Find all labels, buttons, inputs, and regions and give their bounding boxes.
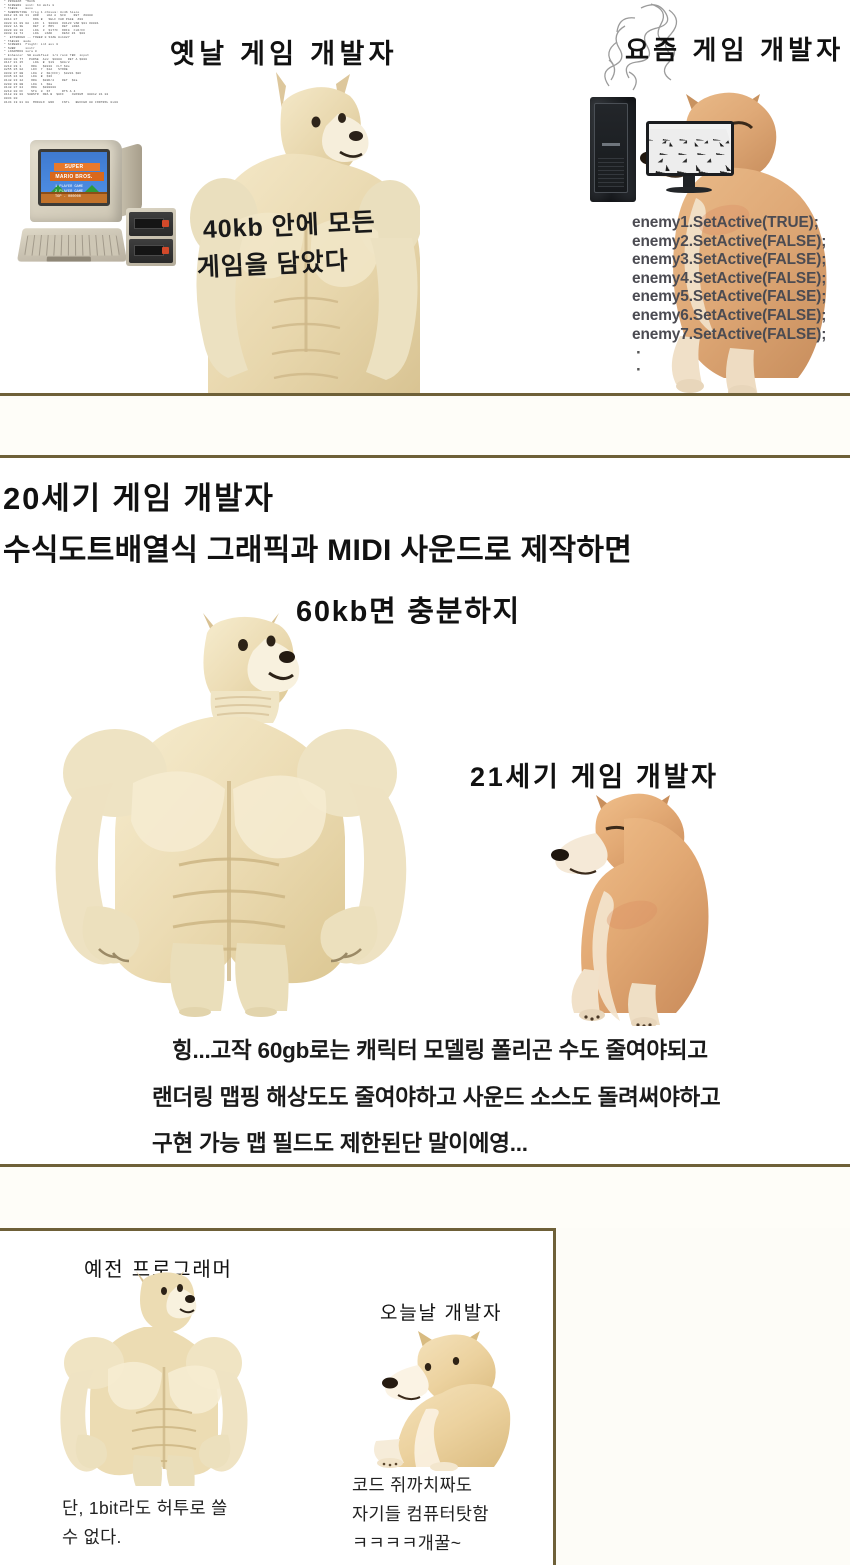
- modern-pc-tower-icon: [590, 95, 760, 210]
- 3d-maze-render: [649, 129, 731, 173]
- panel-gap-top: [0, 399, 850, 455]
- monitor-icon: [646, 121, 734, 176]
- drive-led: [162, 247, 169, 254]
- game-title-super: SUPER: [41, 164, 107, 170]
- meme-collage: * PROGRAM *MAIN * SCREEN0 init: 64 dots …: [0, 0, 850, 1565]
- caption-1bit-line1: 단, 1bit라도 허투로 쓸: [62, 1495, 228, 1520]
- heading-old-developer: 옛날 게임 개발자: [170, 32, 398, 71]
- floppy-drive-stack: [126, 208, 176, 266]
- panel-old-vs-today-programmer: 예전 프로그래머 오늘날 개발자: [0, 1228, 556, 1565]
- code-line: enemy4.SetActive(FALSE);: [632, 270, 848, 289]
- cheems-doge-icon: [540, 791, 765, 1026]
- label-today-developer: 오늘날 개발자: [380, 1298, 502, 1325]
- heading-21st-century-developer: 21세기 게임 개발자: [470, 755, 719, 794]
- spacebar: [47, 257, 92, 262]
- panel-gap-bottom: [0, 1170, 850, 1228]
- retro-computer-icon: SUPER MARIO BROS. 1 PLAYER GAME 2 PLAYER…: [14, 138, 176, 268]
- heading-modern-developer: 요즘 게임 개발자: [625, 30, 844, 67]
- retro-screen: SUPER MARIO BROS. 1 PLAYER GAME 2 PLAYER…: [38, 149, 110, 206]
- monitor-screen: [649, 124, 731, 173]
- retro-assembly-listing: * PROGRAM *MAIN * SCREEN0 init: 64 dots …: [4, 0, 182, 148]
- panel-old-vs-new-developer: * PROGRAM *MAIN * SCREEN0 init: 64 dots …: [0, 0, 850, 396]
- menu-item: TOP - 000000: [55, 195, 83, 200]
- text-graphics-spec: 수식도트배열식 그래픽과 MIDI 사운드로 제작하면: [3, 525, 632, 569]
- caption-blame-line3: ㅋㅋㅋㅋ개꿀~: [352, 1530, 461, 1555]
- code-ellipsis: ·: [632, 344, 848, 361]
- game-menu: 1 PLAYER GAME 2 PLAYER GAME TOP - 000000: [55, 185, 83, 200]
- tower-logo: [602, 143, 620, 146]
- game-title-mario: MARIO BROS.: [41, 174, 107, 180]
- code-line: enemy2.SetActive(FALSE);: [632, 233, 848, 252]
- caption-40kb-line2: 게임을 담았다: [196, 241, 349, 284]
- screen-hill: [85, 185, 99, 192]
- floppy-drive: [129, 212, 173, 236]
- floppy-slot: [134, 218, 164, 229]
- keyboard-keys: [24, 235, 120, 256]
- code-line: enemy1.SetActive(TRUE);: [632, 214, 848, 233]
- pc-tower: [590, 97, 636, 202]
- code-line: enemy7.SetActive(FALSE);: [632, 326, 848, 345]
- caption-60gb-line1: 힝...고작 60gb로는 캐릭터 모델링 폴리곤 수도 줄여야되고: [172, 1033, 708, 1065]
- caption-blame-line2: 자기들 컴퓨터탓함: [352, 1501, 489, 1526]
- code-line: enemy5.SetActive(FALSE);: [632, 288, 848, 307]
- floppy-drive: [129, 239, 173, 263]
- cheems-doge-icon: [368, 1331, 533, 1471]
- panel-20c-vs-21c-developer: 20세기 게임 개발자 수식도트배열식 그래픽과 MIDI 사운드로 제작하면 …: [0, 455, 850, 1167]
- code-line: enemy6.SetActive(FALSE);: [632, 307, 848, 326]
- heading-20th-century-developer: 20세기 게임 개발자: [3, 473, 275, 518]
- code-line: enemy3.SetActive(FALSE);: [632, 251, 848, 270]
- tower-vent: [598, 157, 624, 187]
- caption-60gb-line2: 랜더링 맵핑 해상도도 줄여야하고 사운드 소스도 돌려써야하고: [152, 1080, 721, 1112]
- retro-keyboard: [17, 228, 127, 261]
- buff-doge-icon: [25, 613, 435, 1018]
- enemy-setactive-code-block: enemy1.SetActive(TRUE); enemy2.SetActive…: [632, 214, 848, 378]
- monitor-stand-base: [666, 187, 712, 193]
- buff-doge-icon: [52, 1271, 252, 1486]
- floppy-slot: [134, 245, 164, 256]
- caption-1bit-line2: 수 없다.: [62, 1524, 122, 1549]
- caption-blame-line1: 코드 쥐까치짜도: [352, 1472, 472, 1497]
- code-ellipsis: ·: [632, 361, 848, 378]
- drive-led: [162, 220, 169, 227]
- caption-60gb-line3: 구현 가능 맵 필드도 제한된단 말이에영...: [152, 1126, 528, 1158]
